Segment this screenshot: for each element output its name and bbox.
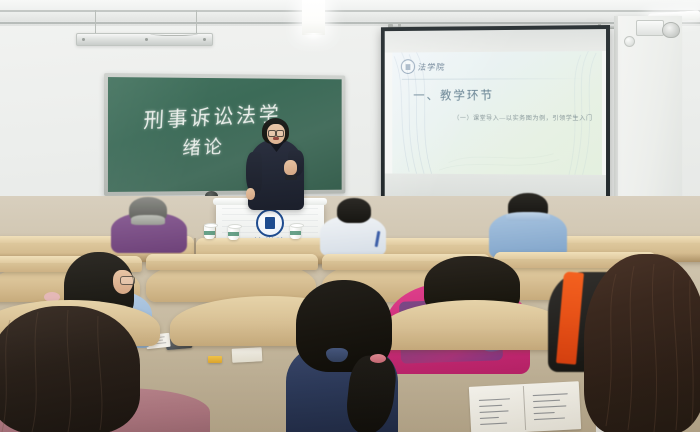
hair-strand-texture — [584, 254, 700, 432]
paper-cup — [228, 225, 239, 240]
shirt-collar — [131, 215, 165, 225]
eyeglasses-icon — [120, 276, 135, 285]
pink-hair-tie — [370, 354, 386, 363]
crest-icon — [401, 59, 415, 74]
shirt-collar — [506, 212, 550, 221]
ceiling-band — [0, 12, 700, 21]
blackboard-title-line2: 绪论 — [182, 132, 226, 160]
camera-lens-icon — [662, 22, 680, 38]
wall-mounted-camera — [636, 20, 664, 36]
notebook-handwriting — [473, 387, 579, 432]
lecturer-gesturing-hand — [284, 160, 297, 175]
slide-institution-logo: 法学院 — [401, 59, 445, 74]
slide-logo-text: 法学院 — [417, 61, 446, 73]
paper-cup — [204, 224, 215, 239]
ceiling-seam-line — [0, 10, 700, 12]
lecturer-left-hand — [246, 188, 255, 200]
slide-subheading: （一）课堂导入—以实务图为例，引领学生入门 — [453, 113, 592, 122]
wristwatch-icon — [285, 175, 297, 180]
lecturer-mouth — [273, 137, 279, 140]
ceiling-seam-line — [0, 22, 700, 24]
paper-cup — [290, 224, 301, 239]
projection-screen: 法学院 一、教学环节 （一）课堂导入—以实务图为例，引领学生入门 — [381, 25, 610, 203]
hair-strand-texture — [0, 306, 140, 432]
dark-hair — [337, 198, 371, 223]
desk-row-mid-center — [146, 254, 318, 270]
wall-fitting — [624, 36, 635, 47]
eyeglasses-icon — [268, 130, 284, 135]
slide-heading: 一、教学环节 — [413, 86, 494, 103]
presentation-slide: 法学院 一、教学环节 （一）课堂导入—以实务图为例，引领学生入门 — [392, 51, 602, 175]
school-crest-icon — [256, 209, 284, 237]
shirt-collar — [326, 348, 348, 362]
open-notebook — [232, 347, 263, 363]
hanging-panel-light — [302, 0, 325, 35]
sticky-note — [208, 356, 222, 363]
screen-blank-area — [385, 29, 606, 53]
classroom-photo: 刑事诉讼法学 绪论 — [0, 0, 700, 432]
blackboard: 刑事诉讼法学 绪论 — [104, 73, 345, 196]
